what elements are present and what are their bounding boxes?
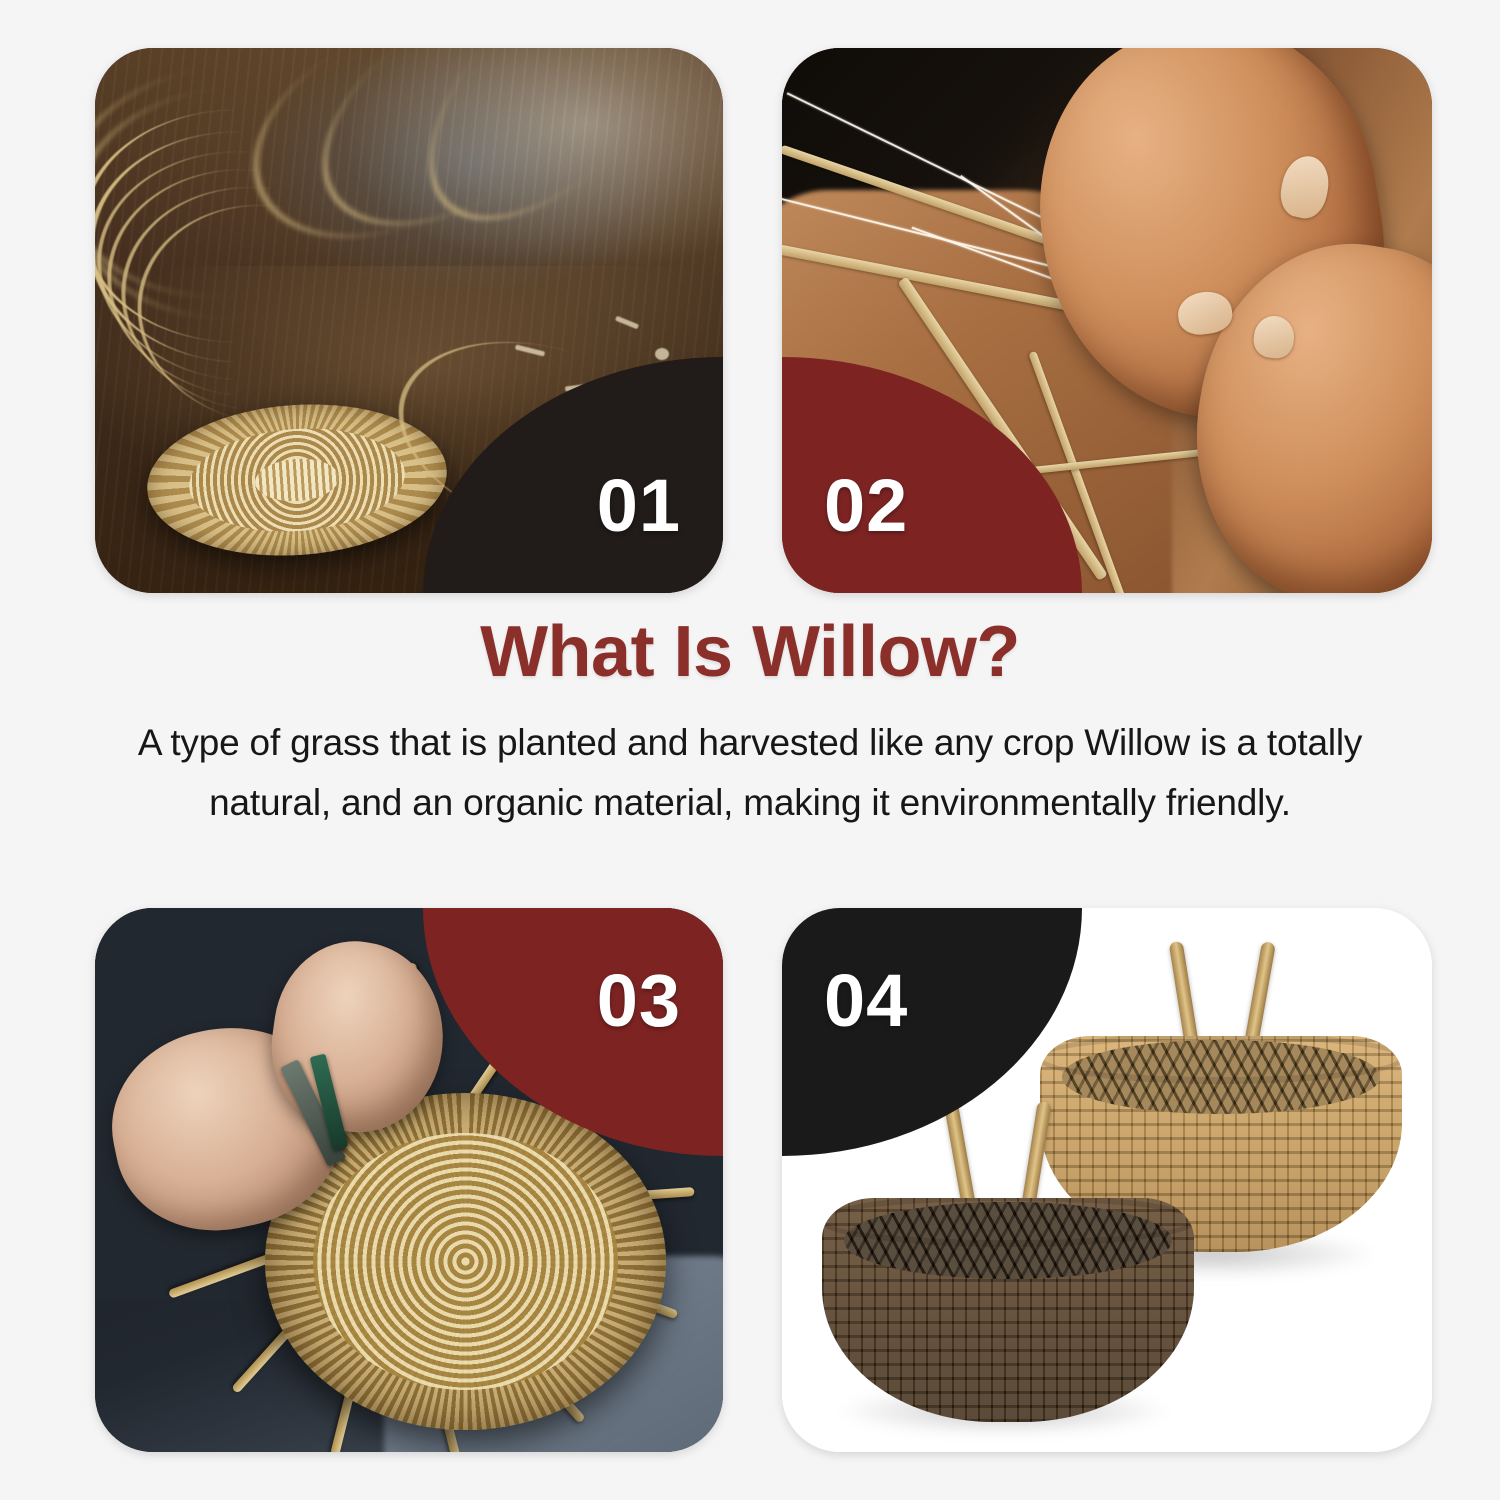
basket-rim <box>1040 1036 1402 1084</box>
basket-body <box>822 1198 1194 1422</box>
panel-card-04: 04 <box>782 908 1432 1452</box>
page-description: A type of grass that is planted and harv… <box>85 713 1415 833</box>
panel-number-label: 02 <box>824 469 908 543</box>
panel-number-badge-03: 03 <box>423 908 723 1156</box>
panel-number-badge-01: 01 <box>423 357 723 593</box>
panel-number-label: 03 <box>597 964 681 1038</box>
panel-card-02: 02 <box>782 48 1432 593</box>
heading-block: What Is Willow? A type of grass that is … <box>0 615 1500 832</box>
panel-card-03: 03 <box>95 908 723 1452</box>
panel-number-badge-02: 02 <box>782 357 1082 593</box>
wicker-basket-dark <box>822 1198 1194 1422</box>
basket-rim <box>822 1198 1194 1247</box>
panel-card-01: 01 <box>95 48 723 593</box>
panel-number-label: 04 <box>824 964 908 1038</box>
page-title: What Is Willow? <box>0 615 1500 691</box>
panel-number-label: 01 <box>597 469 681 543</box>
infographic-page: 01 02 <box>0 0 1500 1500</box>
panel-number-badge-04: 04 <box>782 908 1082 1156</box>
